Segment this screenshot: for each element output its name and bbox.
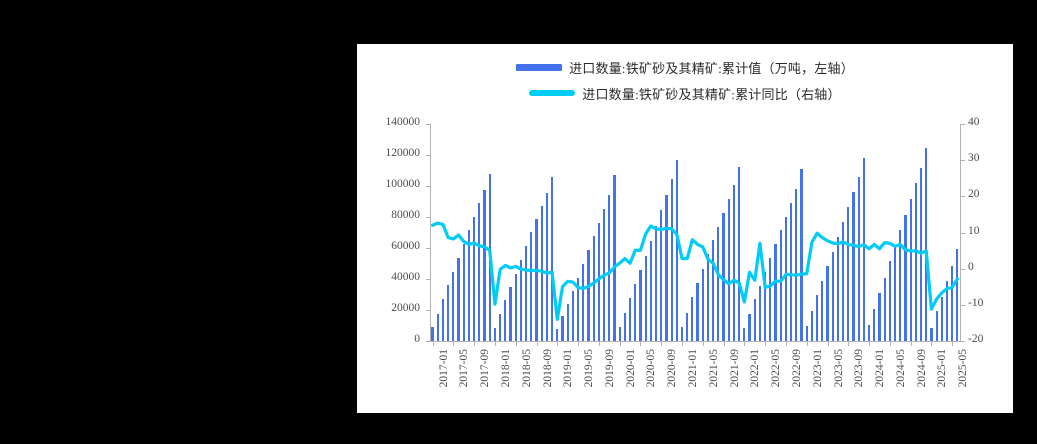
x-tick-label: 2025-05 <box>957 349 969 387</box>
screenshot-root: 进口数量:铁矿砂及其精矿:累计值（万吨，左轴） 进口数量:铁矿砂及其精矿:累计同… <box>0 0 1037 444</box>
x-tick <box>599 342 600 346</box>
x-tick <box>537 342 538 346</box>
x-tick <box>911 342 912 346</box>
x-tick-label: 2018-09 <box>542 349 554 387</box>
y-tick-label-right: 10 <box>968 225 980 237</box>
x-tick <box>620 342 621 346</box>
y-tick-label-left: 100000 <box>386 178 421 190</box>
x-tick-label: 2020-09 <box>666 349 678 387</box>
x-tick <box>952 342 953 346</box>
y-tick-label-right: 30 <box>968 152 980 164</box>
x-tick <box>931 342 932 346</box>
x-tick-label: 2023-05 <box>833 349 845 387</box>
y-tick-label-right: -20 <box>968 333 983 345</box>
x-tick-label: 2024-01 <box>874 349 886 387</box>
x-tick <box>453 342 454 346</box>
x-tick-label: 2019-01 <box>562 349 574 387</box>
x-tick-label: 2019-09 <box>604 349 616 387</box>
x-tick <box>724 342 725 346</box>
y-tick-left <box>426 186 430 187</box>
y-tick-label-left: 40000 <box>391 271 420 283</box>
plot-area: 020000400006000080000100000120000140000 … <box>357 44 1013 413</box>
x-tick <box>765 342 766 346</box>
y-tick-left <box>426 248 430 249</box>
y-tick-label-left: 60000 <box>391 240 420 252</box>
y-tick-label-left: 20000 <box>391 302 420 314</box>
x-tick <box>890 342 891 346</box>
x-tick-label: 2022-01 <box>749 349 761 387</box>
y-tick-left <box>426 310 430 311</box>
x-tick <box>474 342 475 346</box>
y-tick-left <box>426 341 430 342</box>
x-tick-label: 2017-09 <box>479 349 491 387</box>
x-tick-label: 2024-05 <box>895 349 907 387</box>
x-tick-label: 2018-01 <box>500 349 512 387</box>
line-series <box>430 124 960 341</box>
chart-panel: 进口数量:铁矿砂及其精矿:累计值（万吨，左轴） 进口数量:铁矿砂及其精矿:累计同… <box>357 44 1013 413</box>
y-tick-right <box>961 233 965 234</box>
x-tick <box>786 342 787 346</box>
x-tick-label: 2025-01 <box>936 349 948 387</box>
x-tick-label: 2021-09 <box>729 349 741 387</box>
x-tick <box>848 342 849 346</box>
y-tick-right <box>961 124 965 125</box>
y-tick-label-left: 140000 <box>386 116 421 128</box>
x-tick-label: 2017-01 <box>438 349 450 387</box>
x-tick <box>661 342 662 346</box>
x-tick <box>640 342 641 346</box>
y-tick-left <box>426 155 430 156</box>
y-tick-left <box>426 124 430 125</box>
x-tick-label: 2022-05 <box>770 349 782 387</box>
x-tick <box>578 342 579 346</box>
x-tick-label: 2020-01 <box>625 349 637 387</box>
x-tick <box>703 342 704 346</box>
y-tick-right <box>961 196 965 197</box>
x-tick-label: 2023-01 <box>812 349 824 387</box>
y-tick-left <box>426 279 430 280</box>
x-tick <box>682 342 683 346</box>
y-tick-label-right: -10 <box>968 297 983 309</box>
x-tick-label: 2018-05 <box>521 349 533 387</box>
x-axis <box>430 341 961 342</box>
y-tick-label-right: 0 <box>968 261 974 273</box>
x-tick-label: 2021-05 <box>708 349 720 387</box>
y-tick-label-right: 20 <box>968 188 980 200</box>
x-tick-label: 2020-05 <box>645 349 657 387</box>
y-tick-label-left: 120000 <box>386 147 421 159</box>
x-tick <box>557 342 558 346</box>
y-tick-right <box>961 160 965 161</box>
x-tick-label: 2021-01 <box>687 349 699 387</box>
x-tick <box>807 342 808 346</box>
x-tick <box>869 342 870 346</box>
y-tick-right <box>961 305 965 306</box>
y-tick-label-left: 0 <box>414 333 420 345</box>
x-tick-label: 2022-09 <box>791 349 803 387</box>
x-tick-label: 2024-09 <box>916 349 928 387</box>
x-tick <box>744 342 745 346</box>
x-tick <box>433 342 434 346</box>
x-tick <box>828 342 829 346</box>
yoy-line-path <box>433 223 958 319</box>
y-tick-label-right: 40 <box>968 116 980 128</box>
y-tick-right <box>961 341 965 342</box>
y-tick-label-left: 80000 <box>391 209 420 221</box>
x-tick <box>495 342 496 346</box>
x-tick <box>516 342 517 346</box>
y-tick-right <box>961 269 965 270</box>
x-tick-label: 2023-09 <box>853 349 865 387</box>
y-tick-left <box>426 217 430 218</box>
x-tick-label: 2017-05 <box>458 349 470 387</box>
x-tick-label: 2019-05 <box>583 349 595 387</box>
